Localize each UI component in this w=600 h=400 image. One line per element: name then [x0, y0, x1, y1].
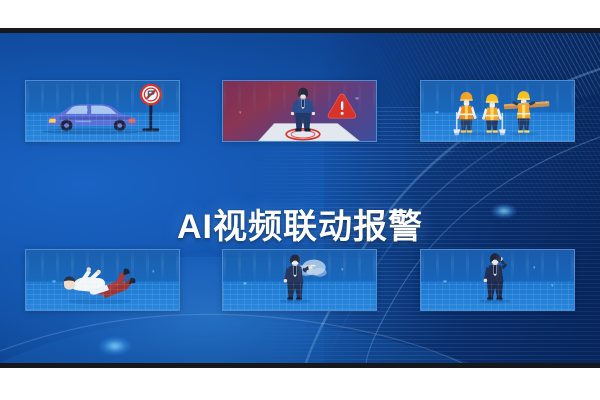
scan-blip: ▾▾ — [443, 280, 446, 285]
scene-floor-grid — [421, 113, 574, 141]
scan-blip: ▾ — [239, 111, 241, 116]
scene-phone-call: ▾▾ ▾ ▾ — [421, 250, 574, 310]
scan-blip: ▾ — [341, 268, 343, 273]
scene-pillars — [26, 81, 179, 116]
scene-pillars — [26, 250, 179, 285]
scene-pillars — [421, 81, 574, 116]
scan-blip: ▾ — [533, 266, 535, 271]
scene-intrusion-detection: ▾ ▾▾ — [223, 81, 376, 141]
scene-floor-grid — [26, 282, 179, 310]
page-title: AI视频联动报警 — [0, 199, 600, 248]
panel-fall-detection[interactable]: ▾▾ ▾ — [25, 249, 180, 311]
scene-fall-detection: ▾▾ ▾ — [26, 250, 179, 310]
scan-blip: ▾ — [545, 101, 547, 106]
scene-pillars — [223, 250, 376, 285]
scan-blip: ▾ — [146, 99, 148, 104]
banner-frame: ▾▾ ▾ — [0, 28, 600, 368]
scene-floor-grid — [26, 113, 179, 141]
scan-blip: ▾▾ — [435, 111, 438, 116]
scene-pillars — [223, 81, 376, 116]
scan-blip: ▾▾ — [84, 109, 87, 114]
banner-canvas: ▾▾ ▾ — [0, 33, 600, 363]
panel-smoking-detection[interactable]: ▾▾ ▾ — [222, 249, 377, 311]
light-glow-left — [92, 333, 138, 359]
scene-illegal-parking: ▾▾ ▾ — [26, 81, 179, 141]
scene-safety-gear: ▾▾ ▾ — [421, 81, 574, 141]
panel-safety-gear-detection[interactable]: ▾▾ ▾ — [420, 80, 575, 142]
scan-blip: ▾▾ — [355, 97, 358, 102]
banner-stage: ▾▾ ▾ — [0, 0, 600, 400]
scene-smoking-detection: ▾▾ ▾ — [223, 250, 376, 310]
scan-blip: ▾ — [551, 284, 553, 289]
panel-phone-call-detection[interactable]: ▾▾ ▾ ▾ — [420, 249, 575, 311]
panel-illegal-parking[interactable]: ▾▾ ▾ — [25, 80, 180, 142]
scan-blip: ▾▾ — [52, 280, 55, 285]
panel-intrusion-detection[interactable]: ▾ ▾▾ — [222, 80, 377, 142]
scan-blip: ▾ — [152, 270, 154, 275]
scan-blip: ▾▾ — [243, 282, 246, 287]
